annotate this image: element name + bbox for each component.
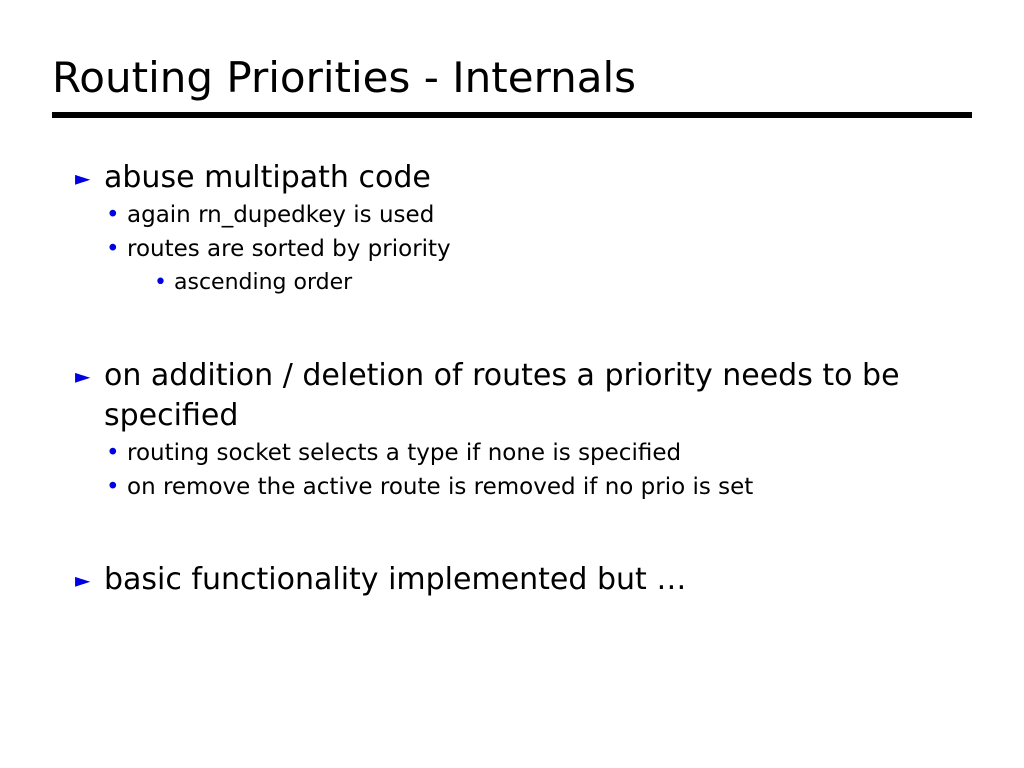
dot-bullet-icon: • bbox=[104, 436, 127, 470]
bullet-level2: • routing socket selects a type if none … bbox=[72, 436, 972, 470]
bullet-level2-label: routing socket selects a type if none is… bbox=[127, 436, 972, 470]
triangle-right-bullet-icon: ► bbox=[72, 356, 104, 396]
bullet-level3: • ascending order bbox=[72, 266, 972, 300]
title-block: Routing Priorities - Internals bbox=[52, 52, 972, 118]
bullet-level2: • on remove the active route is removed … bbox=[72, 470, 972, 504]
dot-bullet-icon: • bbox=[104, 470, 127, 504]
bullet-group: ► basic functionality implemented but … bbox=[72, 560, 972, 600]
bullet-group: ► on addition / deletion of routes a pri… bbox=[72, 356, 972, 504]
page-title: Routing Priorities - Internals bbox=[52, 52, 972, 104]
bullet-level2-label: again rn_dupedkey is used bbox=[127, 198, 972, 232]
dot-bullet-icon: • bbox=[104, 198, 127, 232]
title-underline-rule bbox=[52, 112, 972, 118]
bullet-level1: ► abuse multipath code bbox=[72, 158, 972, 198]
bullet-level1-label: basic functionality implemented but … bbox=[104, 560, 972, 600]
bullet-level1: ► on addition / deletion of routes a pri… bbox=[72, 356, 972, 436]
bullet-level2: • again rn_dupedkey is used bbox=[72, 198, 972, 232]
bullet-level2-label: on remove the active route is removed if… bbox=[127, 470, 972, 504]
bullet-level2: • routes are sorted by priority bbox=[72, 232, 972, 266]
slide: Routing Priorities - Internals ► abuse m… bbox=[0, 0, 1024, 768]
dot-bullet-icon: • bbox=[152, 266, 174, 300]
dot-bullet-icon: • bbox=[104, 232, 127, 266]
bullet-level2-label: routes are sorted by priority bbox=[127, 232, 972, 266]
triangle-right-bullet-icon: ► bbox=[72, 158, 104, 198]
bullet-level1-label: abuse multipath code bbox=[104, 158, 972, 198]
bullet-group: ► abuse multipath code • again rn_dupedk… bbox=[72, 158, 972, 300]
bullet-level3-label: ascending order bbox=[174, 266, 972, 300]
bullet-level1-label: on addition / deletion of routes a prior… bbox=[104, 356, 972, 436]
bullet-level1: ► basic functionality implemented but … bbox=[72, 560, 972, 600]
bullet-list: ► abuse multipath code • again rn_dupedk… bbox=[72, 158, 972, 600]
triangle-right-bullet-icon: ► bbox=[72, 560, 104, 600]
